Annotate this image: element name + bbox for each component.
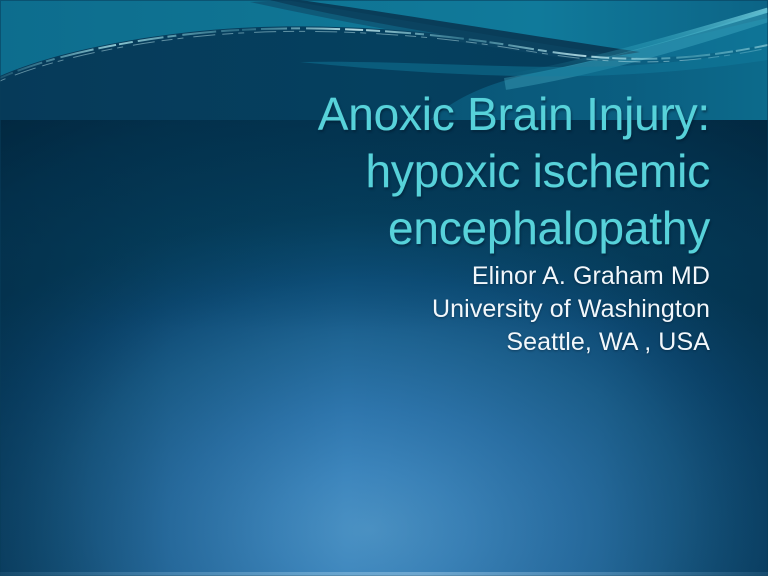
slide-subtitle: Elinor A. Graham MD University of Washin… bbox=[40, 260, 710, 359]
title-slide: Anoxic Brain Injury: hypoxic ischemic en… bbox=[0, 0, 768, 576]
subtitle-location: Seattle, WA , USA bbox=[40, 326, 710, 359]
slide-text-block: Anoxic Brain Injury: hypoxic ischemic en… bbox=[40, 86, 710, 359]
title-line-3: encephalopathy bbox=[40, 200, 710, 257]
title-line-2: hypoxic ischemic bbox=[40, 143, 710, 200]
subtitle-institution: University of Washington bbox=[40, 293, 710, 326]
title-line-1: Anoxic Brain Injury: bbox=[40, 86, 710, 143]
page-title: Anoxic Brain Injury: hypoxic ischemic en… bbox=[40, 86, 710, 257]
subtitle-author: Elinor A. Graham MD bbox=[40, 260, 710, 293]
